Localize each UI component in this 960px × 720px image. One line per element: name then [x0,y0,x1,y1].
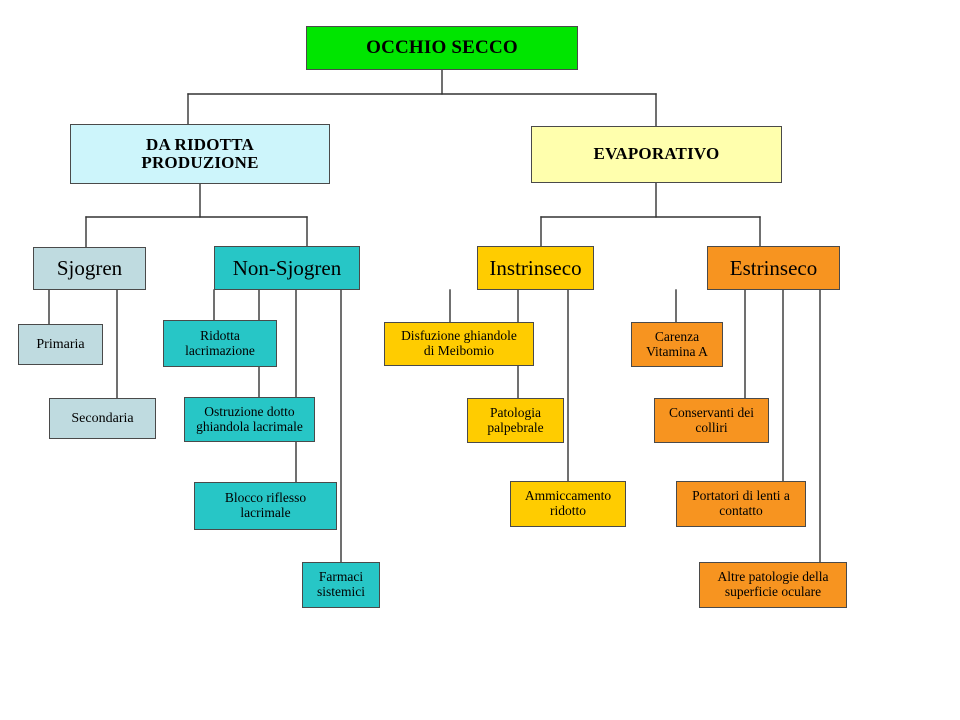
node-portatori-lenti[interactable]: Portatori di lenti a contatto [676,481,806,527]
node-label: Primaria [36,337,84,352]
node-altre-patologie[interactable]: Altre patologie della superficie oculare [699,562,847,608]
node-disfuzione-meibomio[interactable]: Disfuzione ghiandole di Meibomio [384,322,534,366]
node-ridotta-lacrimazione[interactable]: Ridotta lacrimazione [163,320,277,367]
node-sjogren[interactable]: Sjogren [33,247,146,290]
node-blocco-riflesso[interactable]: Blocco riflesso lacrimale [194,482,337,530]
node-label: EVAPORATIVO [594,145,720,163]
node-patologia-palpebrale[interactable]: Patologia palpebrale [467,398,564,443]
node-instrinseco[interactable]: Instrinseco [477,246,594,290]
node-label: Instrinseco [489,257,581,280]
node-label: Carenza Vitamina A [646,330,708,359]
node-label: Blocco riflesso lacrimale [225,491,306,520]
node-estrinseco[interactable]: Estrinseco [707,246,840,290]
node-label: Portatori di lenti a contatto [692,489,790,518]
node-label: Conservanti dei colliri [669,406,754,435]
node-label: Secondaria [71,411,133,426]
node-label: Estrinseco [730,257,817,280]
node-label: Ridotta lacrimazione [185,329,255,358]
node-label: Sjogren [57,257,122,280]
node-ridotta-produzione[interactable]: DA RIDOTTA PRODUZIONE [70,124,330,184]
node-label: OCCHIO SECCO [366,38,518,59]
flowchart-canvas: OCCHIO SECCODA RIDOTTA PRODUZIONEEVAPORA… [0,0,960,720]
node-label: Non-Sjogren [233,257,342,280]
node-non-sjogren[interactable]: Non-Sjogren [214,246,360,290]
node-label: Ammiccamento ridotto [525,489,611,518]
node-label: Farmaci sistemici [317,570,365,599]
node-farmaci-sistemici[interactable]: Farmaci sistemici [302,562,380,608]
node-label: Ostruzione dotto ghiandola lacrimale [196,405,303,434]
node-conservanti-colliri[interactable]: Conservanti dei colliri [654,398,769,443]
node-carenza-vitamina-a[interactable]: Carenza Vitamina A [631,322,723,367]
node-evaporativo[interactable]: EVAPORATIVO [531,126,782,183]
node-root[interactable]: OCCHIO SECCO [306,26,578,70]
node-primaria[interactable]: Primaria [18,324,103,365]
node-label: Altre patologie della superficie oculare [718,570,829,599]
node-label: Patologia palpebrale [487,406,543,435]
node-ostruzione-dotto[interactable]: Ostruzione dotto ghiandola lacrimale [184,397,315,442]
node-secondaria[interactable]: Secondaria [49,398,156,439]
node-label: Disfuzione ghiandole di Meibomio [401,329,517,358]
node-ammiccamento-ridotto[interactable]: Ammiccamento ridotto [510,481,626,527]
node-label: DA RIDOTTA PRODUZIONE [141,136,258,173]
